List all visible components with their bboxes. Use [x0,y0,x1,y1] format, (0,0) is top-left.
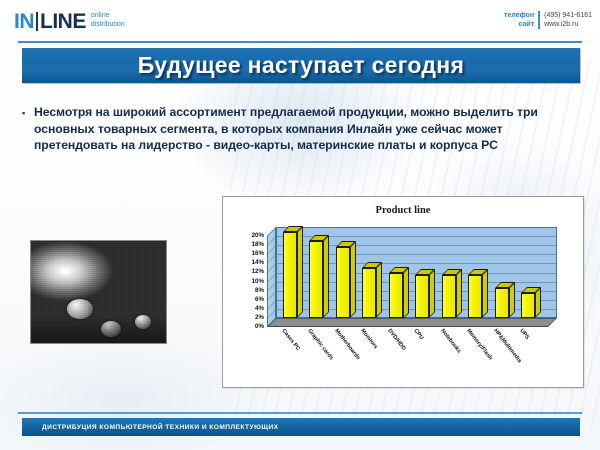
chart-x-tick-label: UPS [518,328,530,341]
logo-tagline-line2: distribution [91,21,125,28]
logo-tagline-line1: online [91,12,110,19]
chart-bar-front [362,268,376,318]
chart-x-tick-label: Monitors [359,328,378,350]
logo-text-line: LINE [40,11,86,32]
chart-y-tick-label: 16% [252,251,264,257]
chart-y-tick-label: 6% [255,297,264,303]
chart-x-tick-label: Cases PC [280,328,301,352]
footer-bar: ДИСТРИБУЦИЯ КОМПЬЮТЕРНОЙ ТЕХНИКИ И КОМПЛ… [22,418,580,436]
chart-y-tick-label: 0% [255,324,264,330]
chart-floor [267,318,557,327]
contact-labels: телефон сайт [504,11,538,29]
chart-gridline [276,318,557,319]
product-line-chart: Product line 20%18%16%14%12%10%8%6%4%2%0… [222,196,584,388]
illustration-photo [30,240,167,344]
chart-bar-side [456,269,462,318]
chart-x-axis: Cases PCGraphic cardsMotherboardsMonitor… [267,328,566,384]
chart-bar-side [403,267,409,319]
chart-y-tick-label: 4% [255,306,264,312]
chart-bar-front [415,275,429,318]
chart-y-tick-label: 10% [252,278,264,284]
chart-bar-side [376,262,382,318]
chart-bar-front [283,232,297,318]
page-title: Будущее наступает сегодня [138,52,464,79]
bullet-list: ▪ Несмотря на широкий ассортимент предла… [22,104,578,154]
chart-x-tick-label: Graphic cards [306,328,334,361]
logo-divider-icon [36,12,38,31]
chart-x-tick-label: DVD/HDD [386,328,406,352]
chart-title: Product line [223,205,583,216]
contact-values: (495) 941-6161 www.i2b.ru [544,11,592,29]
footer-divider [18,412,582,414]
title-banner: Будущее наступает сегодня [22,48,580,83]
logo-text-in: IN [14,11,34,32]
chart-bar-side [350,241,356,318]
chart-bar-side [297,226,303,318]
logo-tagline: online distribution [91,12,125,29]
chart-y-tick-label: 12% [252,269,264,275]
contact-label-site: сайт [504,20,534,29]
chart-bar-side [482,269,488,318]
chart-y-tick-label: 20% [252,233,264,239]
chart-bar-front [309,241,323,318]
chart-bar-front [495,288,509,318]
chart-bars [276,227,557,318]
contact-divider-icon [538,11,540,29]
chart-x-tick-label: Memory/Flash [465,328,493,361]
contact-block: телефон сайт (495) 941-6161 www.i2b.ru [504,11,592,29]
header-divider [18,41,582,43]
chart-x-tick-label: HP&Multimedia [492,328,522,364]
chart-bar-front [389,273,403,319]
chart-bar-side [323,235,329,318]
chart-y-tick-label: 14% [252,260,264,266]
photo-vignette [31,317,166,343]
chart-y-tick-label: 2% [255,315,264,321]
slide-header: IN LINE online distribution телефон сайт… [0,0,600,42]
chart-bar-side [509,282,515,318]
chart-y-tick-label: 8% [255,287,264,293]
contact-phone-number: (495) 941-6161 [544,11,592,20]
chart-bar-side [429,269,435,318]
slide: IN LINE online distribution телефон сайт… [0,0,600,450]
chart-x-tick-label: Motherboards [333,328,361,361]
company-logo: IN LINE online distribution [14,11,125,32]
chart-x-tick-label: Notebooks [439,328,462,354]
chart-bar-front [521,293,535,318]
chart-bar-front [468,275,482,318]
bullet-marker-icon: ▪ [22,104,34,154]
chart-y-tick-label: 18% [252,242,264,248]
footer-text: ДИСТРИБУЦИЯ КОМПЬЮТЕРНОЙ ТЕХНИКИ И КОМПЛ… [42,424,279,431]
chart-bar-front [336,247,350,318]
chart-plot-area: 20%18%16%14%12%10%8%6%4%2%0% [267,227,557,327]
chart-bar-front [442,275,456,318]
chart-x-tick-label: CPU [412,328,424,341]
contact-website-link[interactable]: www.i2b.ru [544,20,592,29]
contact-label-phone: телефон [504,11,534,20]
bullet-paragraph: Несмотря на широкий ассортимент предлага… [34,104,578,154]
